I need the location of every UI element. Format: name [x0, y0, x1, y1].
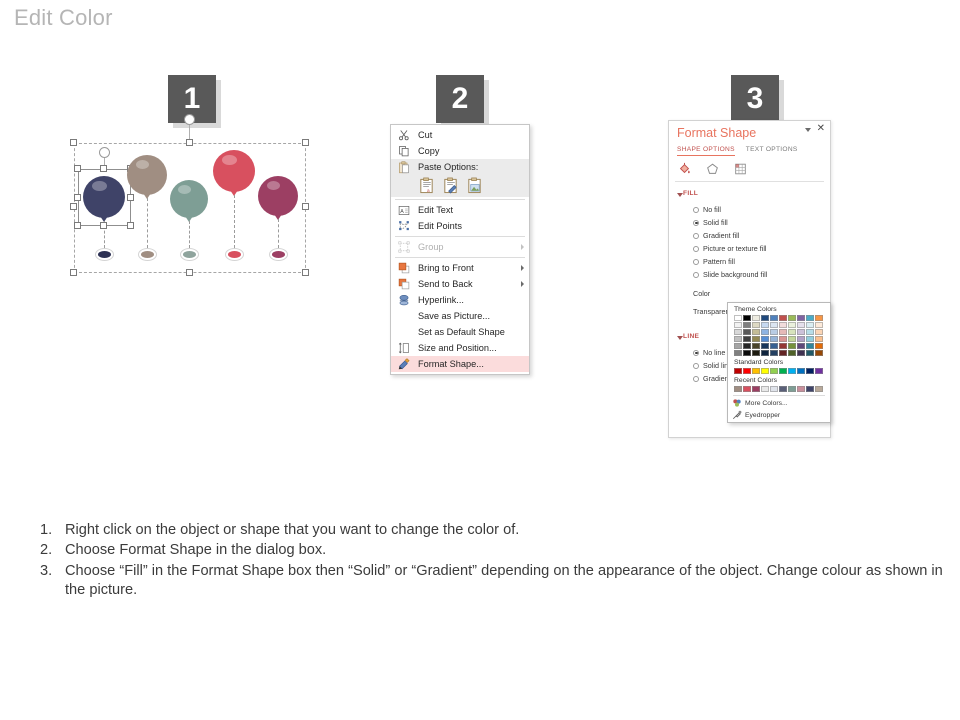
group-icon	[396, 240, 411, 254]
radio-no-fill-indicator[interactable]	[693, 207, 699, 213]
group-handle-sw[interactable]	[70, 269, 77, 276]
eyedropper-button[interactable]: Eyedropper	[728, 409, 830, 421]
chevron-right-icon	[521, 281, 524, 287]
menu-item-edit-points-label: Edit Points	[418, 221, 462, 231]
recent-swatch-5[interactable]	[779, 386, 787, 392]
instruction-number: 1.	[40, 521, 65, 540]
theme-swatch-r3-c3[interactable]	[761, 336, 769, 342]
balloon-navy-base-dot	[98, 251, 111, 258]
balloon-taupe-body[interactable]	[127, 155, 167, 195]
format-pane-icon-row[interactable]	[677, 162, 748, 176]
theme-swatch-r5-c4[interactable]	[770, 350, 778, 356]
theme-swatch-base-8[interactable]	[806, 315, 814, 321]
paste-keep-source-formatting-icon[interactable]: a	[418, 177, 435, 194]
group-handle-ne[interactable]	[302, 139, 309, 146]
menu-item-format-shape[interactable]: Format Shape...	[391, 356, 529, 372]
recent-swatch-8[interactable]	[806, 386, 814, 392]
menu-item-paste-options-label: Paste Options:	[418, 162, 478, 172]
instruction-item: 2. Choose Format Shape in the dialog box…	[40, 541, 945, 560]
more-colors-button[interactable]: More Colors...	[728, 397, 830, 409]
balloon-maroon-body[interactable]	[258, 176, 298, 216]
theme-swatch-r2-c6[interactable]	[788, 329, 796, 335]
radio-gradient-fill[interactable]: Gradient fill	[693, 231, 739, 240]
radio-gradient-line-indicator[interactable]	[693, 376, 699, 382]
menu-separator-1	[395, 199, 525, 200]
balloon-sage-body[interactable]	[170, 180, 208, 218]
recent-colors-grid[interactable]	[728, 385, 830, 394]
svg-text:a: a	[427, 189, 430, 194]
tab-shape-options[interactable]: SHAPE OPTIONS	[677, 146, 735, 156]
theme-swatch-r4-c2[interactable]	[752, 343, 760, 349]
instruction-number: 2.	[40, 541, 65, 560]
theme-swatch-r4-c4[interactable]	[770, 343, 778, 349]
theme-swatch-r5-c3[interactable]	[761, 350, 769, 356]
menu-item-paste-options: Paste Options:	[391, 159, 529, 175]
radio-no-fill[interactable]: No fill	[693, 205, 721, 214]
shape-handle-s[interactable]	[100, 222, 107, 229]
theme-swatch-base-9[interactable]	[815, 315, 823, 321]
menu-item-size-and-position[interactable]: Size and Position...	[391, 340, 529, 356]
recent-swatch-4[interactable]	[770, 386, 778, 392]
paste-options-row[interactable]: a	[391, 175, 529, 197]
theme-swatch-r3-c5[interactable]	[779, 336, 787, 342]
shape-rotate-handle[interactable]	[99, 147, 110, 158]
format-shape-icon	[396, 357, 411, 371]
recent-swatch-7[interactable]	[797, 386, 805, 392]
theme-swatch-r5-c6[interactable]	[788, 350, 796, 356]
theme-swatch-r3-c6[interactable]	[788, 336, 796, 342]
shape-selection-frame[interactable]	[78, 169, 131, 226]
tab-text-options[interactable]: TEXT OPTIONS	[746, 146, 798, 156]
paste-icon	[396, 160, 411, 174]
standard-swatch-0[interactable]	[734, 368, 742, 374]
eyedropper-label: Eyedropper	[745, 412, 780, 419]
theme-swatch-r1-c3[interactable]	[761, 322, 769, 328]
fill-section-heading: FILL	[683, 190, 698, 197]
instruction-number: 3.	[40, 562, 65, 601]
theme-swatch-r1-c5[interactable]	[779, 322, 787, 328]
radio-no-line-indicator[interactable]	[693, 350, 699, 356]
group-rotate-stem	[189, 125, 190, 139]
radio-solid-fill-label: Solid fill	[703, 218, 728, 227]
copy-icon	[396, 144, 411, 158]
radio-no-line-label: No line	[703, 348, 725, 357]
format-pane-divider	[675, 181, 824, 182]
theme-swatch-r1-c2[interactable]	[752, 322, 760, 328]
balloon-red-base-dot	[228, 251, 241, 258]
paste-as-picture-icon[interactable]	[466, 177, 483, 194]
theme-swatch-base-5[interactable]	[779, 315, 787, 321]
radio-solid-fill[interactable]: Solid fill	[693, 218, 728, 227]
theme-swatch-r5-c8[interactable]	[806, 350, 814, 356]
instruction-item: 1. Right click on the object or shape th…	[40, 521, 945, 540]
context-menu[interactable]: Cut Copy Paste Options:	[390, 124, 530, 375]
recent-swatch-0[interactable]	[734, 386, 742, 392]
chevron-down-icon[interactable]	[805, 128, 811, 132]
menu-item-hyperlink-label: Hyperlink...	[418, 295, 464, 305]
menu-item-bring-to-front[interactable]: Bring to Front	[391, 260, 529, 276]
recent-swatch-9[interactable]	[815, 386, 823, 392]
theme-swatch-r2-c7[interactable]	[797, 329, 805, 335]
eyedropper-icon	[732, 410, 742, 420]
menu-item-copy[interactable]: Copy	[391, 143, 529, 159]
chevron-right-icon	[521, 244, 524, 250]
theme-swatch-r1-c7[interactable]	[797, 322, 805, 328]
balloon-sage-string	[189, 221, 190, 248]
balloon-taupe-string	[147, 198, 148, 248]
theme-swatch-r1-c1[interactable]	[743, 322, 751, 328]
menu-item-edit-points[interactable]: Edit Points	[391, 218, 529, 234]
theme-swatch-r3-c0[interactable]	[734, 336, 742, 342]
group-handle-e[interactable]	[302, 203, 309, 210]
menu-item-set-as-default-shape[interactable]: Set as Default Shape	[391, 324, 529, 340]
standard-swatch-7[interactable]	[797, 368, 805, 374]
theme-swatch-r4-c3[interactable]	[761, 343, 769, 349]
format-pane-tabs[interactable]: SHAPE OPTIONS TEXT OPTIONS	[677, 146, 798, 156]
page-title: Edit Color	[14, 5, 113, 31]
theme-swatch-r4-c8[interactable]	[806, 343, 814, 349]
shape-handle-e[interactable]	[127, 194, 134, 201]
standard-colors-grid[interactable]	[728, 367, 830, 376]
group-rotate-handle[interactable]	[184, 114, 195, 125]
recent-swatch-1[interactable]	[743, 386, 751, 392]
group-handle-nw[interactable]	[70, 139, 77, 146]
theme-swatch-r3-c2[interactable]	[752, 336, 760, 342]
theme-swatch-r5-c5[interactable]	[779, 350, 787, 356]
theme-swatch-r4-c6[interactable]	[788, 343, 796, 349]
radio-gradient-fill-label: Gradient fill	[703, 231, 739, 240]
standard-swatch-4[interactable]	[770, 368, 778, 374]
send-back-icon	[396, 277, 411, 291]
standard-swatch-3[interactable]	[761, 368, 769, 374]
theme-swatch-r2-c9[interactable]	[815, 329, 823, 335]
theme-swatch-r1-c6[interactable]	[788, 322, 796, 328]
edit-points-icon	[396, 219, 411, 233]
theme-swatch-base-0[interactable]	[734, 315, 742, 321]
standard-swatch-1[interactable]	[743, 368, 751, 374]
theme-swatch-r3-c7[interactable]	[797, 336, 805, 342]
radio-no-fill-label: No fill	[703, 205, 721, 214]
theme-swatch-r5-c1[interactable]	[743, 350, 751, 356]
theme-swatch-r4-c5[interactable]	[779, 343, 787, 349]
theme-swatch-r5-c0[interactable]	[734, 350, 742, 356]
shape-handle-n[interactable]	[100, 165, 107, 172]
group-handle-w[interactable]	[70, 203, 77, 210]
shape-handle-w[interactable]	[74, 194, 81, 201]
theme-swatch-r2-c8[interactable]	[806, 329, 814, 335]
theme-swatch-r5-c9[interactable]	[815, 350, 823, 356]
theme-swatch-r2-c4[interactable]	[770, 329, 778, 335]
balloon-red-string	[234, 195, 235, 248]
bring-front-icon	[396, 261, 411, 275]
edit-text-icon: A	[396, 203, 411, 217]
size-position-icon	[396, 341, 411, 355]
theme-swatch-r5-c2[interactable]	[752, 350, 760, 356]
chevron-right-icon	[521, 265, 524, 271]
balloon-sage-base-dot	[183, 251, 196, 258]
radio-pattern-fill-indicator[interactable]	[693, 259, 699, 265]
theme-swatch-r4-c0[interactable]	[734, 343, 742, 349]
theme-swatch-base-7[interactable]	[797, 315, 805, 321]
balloon-maroon-string	[278, 219, 279, 248]
theme-swatch-r3-c9[interactable]	[815, 336, 823, 342]
group-handle-se[interactable]	[302, 269, 309, 276]
menu-item-bring-to-front-label: Bring to Front	[418, 263, 474, 273]
scissors-icon	[396, 128, 411, 142]
slide-canvas: Edit Color 1 2 3	[0, 0, 960, 720]
menu-item-edit-text-label: Edit Text	[418, 205, 453, 215]
radio-gradient-fill-indicator[interactable]	[693, 233, 699, 239]
instruction-text: Right click on the object or shape that …	[65, 521, 945, 540]
radio-picture-fill-label: Picture or texture fill	[703, 244, 767, 253]
shape-handle-nw[interactable]	[74, 165, 81, 172]
menu-separator-3	[395, 257, 525, 258]
theme-swatch-r1-c0[interactable]	[734, 322, 742, 328]
group-handle-n[interactable]	[186, 139, 193, 146]
theme-swatch-r2-c0[interactable]	[734, 329, 742, 335]
color-picker-dropdown[interactable]: Theme Colors Standard Colors Recent Colo…	[727, 302, 831, 423]
theme-swatch-r2-c1[interactable]	[743, 329, 751, 335]
color-field-label: Color	[693, 289, 710, 298]
instruction-item: 3. Choose “Fill” in the Format Shape box…	[40, 562, 945, 601]
menu-item-format-shape-label: Format Shape...	[418, 359, 484, 369]
fill-bucket-icon[interactable]	[677, 162, 692, 176]
instructions-list: 1. Right click on the object or shape th…	[40, 521, 945, 602]
theme-swatch-r3-c8[interactable]	[806, 336, 814, 342]
theme-swatch-r2-c5[interactable]	[779, 329, 787, 335]
step-badge-2: 2	[436, 75, 484, 123]
theme-swatch-base-2[interactable]	[752, 315, 760, 321]
menu-item-set-as-default-shape-label: Set as Default Shape	[418, 327, 505, 337]
theme-swatch-r1-c9[interactable]	[815, 322, 823, 328]
standard-colors-heading: Standard Colors	[728, 358, 830, 367]
theme-swatch-r2-c2[interactable]	[752, 329, 760, 335]
shape-selection-panel	[74, 143, 306, 273]
theme-swatch-base-3[interactable]	[761, 315, 769, 321]
menu-item-edit-text[interactable]: A Edit Text	[391, 202, 529, 218]
paste-picture-edit-icon[interactable]	[442, 177, 459, 194]
theme-swatch-r2-c3[interactable]	[761, 329, 769, 335]
recent-swatch-2[interactable]	[752, 386, 760, 392]
radio-pattern-fill[interactable]: Pattern fill	[693, 257, 735, 266]
more-colors-label: More Colors...	[745, 400, 788, 407]
svg-text:A: A	[400, 208, 404, 214]
theme-swatch-r3-c1[interactable]	[743, 336, 751, 342]
theme-swatch-r4-c7[interactable]	[797, 343, 805, 349]
theme-colors-grid[interactable]	[728, 314, 830, 358]
radio-solid-fill-indicator[interactable]	[693, 220, 699, 226]
more-colors-icon	[732, 398, 742, 408]
menu-item-send-to-back[interactable]: Send to Back	[391, 276, 529, 292]
radio-no-line[interactable]: No line	[693, 348, 725, 357]
radio-slide-background-fill-indicator[interactable]	[693, 272, 699, 278]
standard-swatch-9[interactable]	[815, 368, 823, 374]
shape-handle-sw[interactable]	[74, 222, 81, 229]
radio-pattern-fill-label: Pattern fill	[703, 257, 735, 266]
group-handle-s[interactable]	[186, 269, 193, 276]
theme-swatch-r5-c7[interactable]	[797, 350, 805, 356]
theme-colors-heading: Theme Colors	[728, 305, 830, 314]
menu-item-save-as-picture[interactable]: Save as Picture...	[391, 308, 529, 324]
menu-item-copy-label: Copy	[418, 146, 439, 156]
radio-slide-background-fill[interactable]: Slide background fill	[693, 270, 767, 279]
instruction-text: Choose “Fill” in the Format Shape box th…	[65, 562, 945, 601]
menu-item-size-and-position-label: Size and Position...	[418, 343, 497, 353]
menu-item-hyperlink[interactable]: Hyperlink...	[391, 292, 529, 308]
balloon-maroon-base-dot	[272, 251, 285, 258]
format-shape-title: Format Shape	[677, 126, 756, 140]
theme-swatch-r1-c8[interactable]	[806, 322, 814, 328]
theme-swatch-r3-c4[interactable]	[770, 336, 778, 342]
step-badge-3: 3	[731, 75, 779, 123]
theme-swatch-r4-c9[interactable]	[815, 343, 823, 349]
standard-swatch-5[interactable]	[779, 368, 787, 374]
menu-item-save-as-picture-label: Save as Picture...	[418, 311, 490, 321]
balloon-taupe-base-dot	[141, 251, 154, 258]
line-section-heading: LINE	[683, 333, 699, 340]
recent-swatch-3[interactable]	[761, 386, 769, 392]
shape-handle-se[interactable]	[127, 222, 134, 229]
radio-solid-line-indicator[interactable]	[693, 363, 699, 369]
theme-swatch-base-4[interactable]	[770, 315, 778, 321]
balloon-red-body[interactable]	[213, 150, 255, 192]
standard-swatch-2[interactable]	[752, 368, 760, 374]
standard-swatch-6[interactable]	[788, 368, 796, 374]
radio-slide-background-fill-label: Slide background fill	[703, 270, 767, 279]
menu-item-group: Group	[391, 239, 529, 255]
menu-separator-2	[395, 236, 525, 237]
close-icon[interactable]: ✕	[817, 124, 825, 134]
menu-item-cut[interactable]: Cut	[391, 127, 529, 143]
menu-item-group-label: Group	[418, 242, 444, 252]
menu-item-send-to-back-label: Send to Back	[418, 279, 473, 289]
radio-picture-or-texture-fill[interactable]: Picture or texture fill	[693, 244, 767, 253]
instruction-text: Choose Format Shape in the dialog box.	[65, 541, 945, 560]
theme-swatch-base-1[interactable]	[743, 315, 751, 321]
standard-swatch-8[interactable]	[806, 368, 814, 374]
effects-pentagon-icon[interactable]	[705, 162, 720, 176]
menu-item-cut-label: Cut	[418, 130, 432, 140]
theme-swatch-r1-c4[interactable]	[770, 322, 778, 328]
hyperlink-icon	[396, 293, 411, 307]
picker-separator	[733, 395, 825, 396]
recent-swatch-6[interactable]	[788, 386, 796, 392]
theme-swatch-base-6[interactable]	[788, 315, 796, 321]
recent-colors-heading: Recent Colors	[728, 376, 830, 385]
radio-picture-fill-indicator[interactable]	[693, 246, 699, 252]
theme-swatch-r4-c1[interactable]	[743, 343, 751, 349]
size-properties-icon[interactable]	[733, 162, 748, 176]
